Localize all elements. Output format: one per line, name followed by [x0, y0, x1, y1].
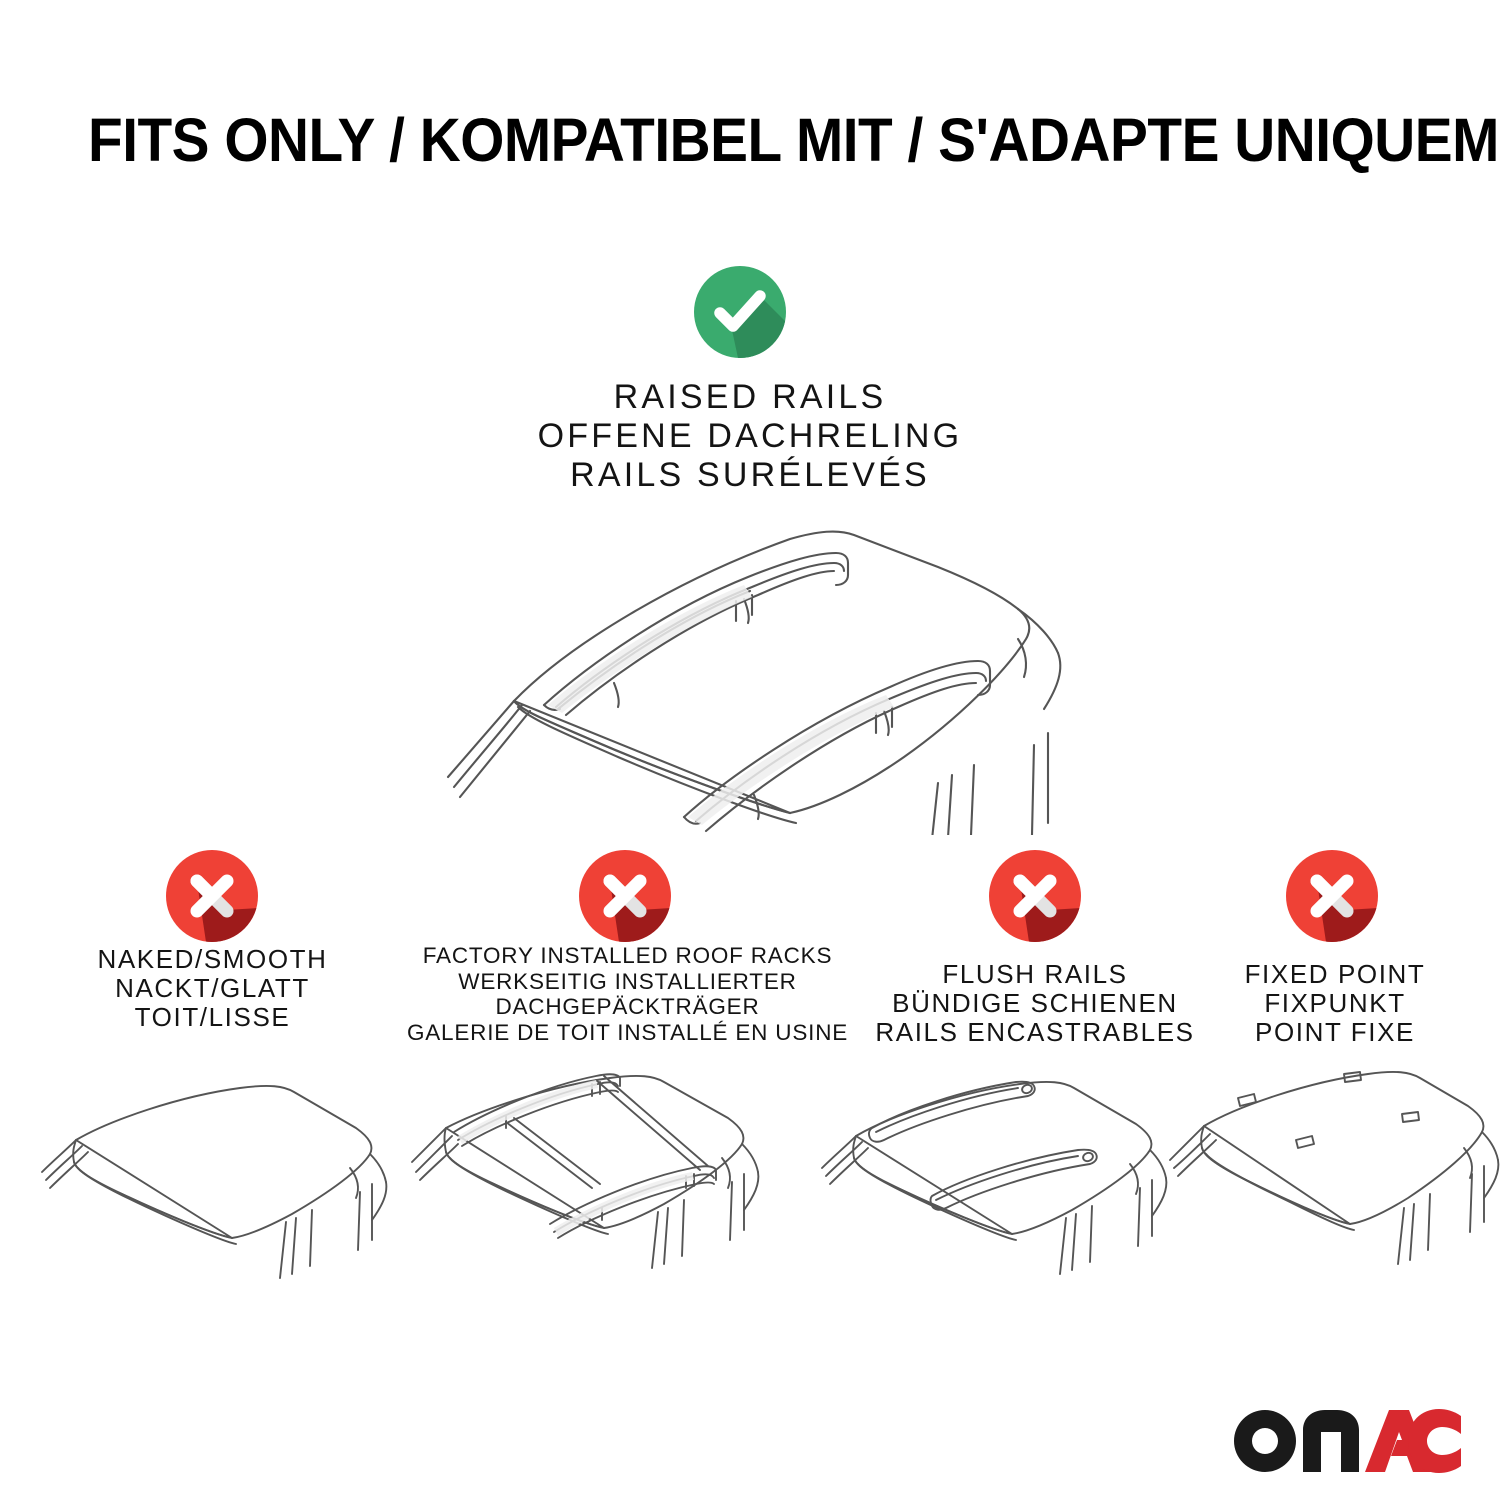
- label-line: FLUSH RAILS: [845, 960, 1225, 989]
- label-line: POINT FIXE: [1190, 1018, 1480, 1047]
- cross-icon: [989, 850, 1081, 942]
- incompatible-label-fixed-point: FIXED POINT FIXPUNKT POINT FIXE: [1190, 960, 1480, 1047]
- label-line: FIXPUNKT: [1190, 989, 1480, 1018]
- label-line: TOIT/LISSE: [20, 1003, 405, 1032]
- label-line: NAKED/SMOOTH: [20, 945, 405, 974]
- car-roof-factory-racks-illustration: [410, 1062, 810, 1312]
- label-line: NACKT/GLATT: [20, 974, 405, 1003]
- car-roof-fixed-point-illustration: [1168, 1062, 1500, 1312]
- label-line: WERKSEITIG INSTALLIERTER: [400, 969, 855, 995]
- car-roof-naked-smooth-illustration: [40, 1062, 420, 1312]
- compatible-label: RAISED RAILS OFFENE DACHRELING RAILS SUR…: [0, 378, 1500, 495]
- incompatible-label-flush-rails: FLUSH RAILS BÜNDIGE SCHIENEN RAILS ENCAS…: [845, 960, 1225, 1047]
- omac-logo: [1233, 1408, 1461, 1479]
- label-line: RAILS ENCASTRABLES: [845, 1018, 1225, 1047]
- check-icon: [694, 266, 786, 358]
- logo-letter-o: [1234, 1410, 1296, 1472]
- cross-icon: [166, 850, 258, 942]
- compatible-label-line-3: RAILS SURÉLEVÉS: [0, 456, 1500, 495]
- cross-icon: [579, 850, 671, 942]
- compatible-label-line-2: OFFENE DACHRELING: [0, 417, 1500, 456]
- label-line: BÜNDIGE SCHIENEN: [845, 989, 1225, 1018]
- compatible-label-line-1: RAISED RAILS: [0, 378, 1500, 417]
- infographic-page: FITS ONLY / KOMPATIBEL MIT / S'ADAPTE UN…: [0, 0, 1500, 1500]
- label-line: GALERIE DE TOIT INSTALLÉ EN USINE: [400, 1020, 855, 1046]
- incompatible-label-naked-smooth: NAKED/SMOOTH NACKT/GLATT TOIT/LISSE: [20, 945, 405, 1032]
- cross-icon: [1286, 850, 1378, 942]
- label-line: FIXED POINT: [1190, 960, 1480, 989]
- car-roof-flush-rails-illustration: [820, 1062, 1220, 1312]
- page-title: FITS ONLY / KOMPATIBEL MIT / S'ADAPTE UN…: [88, 108, 1325, 172]
- logo-letter-m: [1303, 1410, 1359, 1472]
- car-roof-raised-rails-illustration: [418, 505, 1098, 835]
- incompatible-label-factory-racks: FACTORY INSTALLED ROOF RACKS WERKSEITIG …: [400, 943, 855, 1045]
- label-line: DACHGEPÄCKTRÄGER: [400, 994, 855, 1020]
- label-line: FACTORY INSTALLED ROOF RACKS: [400, 943, 855, 969]
